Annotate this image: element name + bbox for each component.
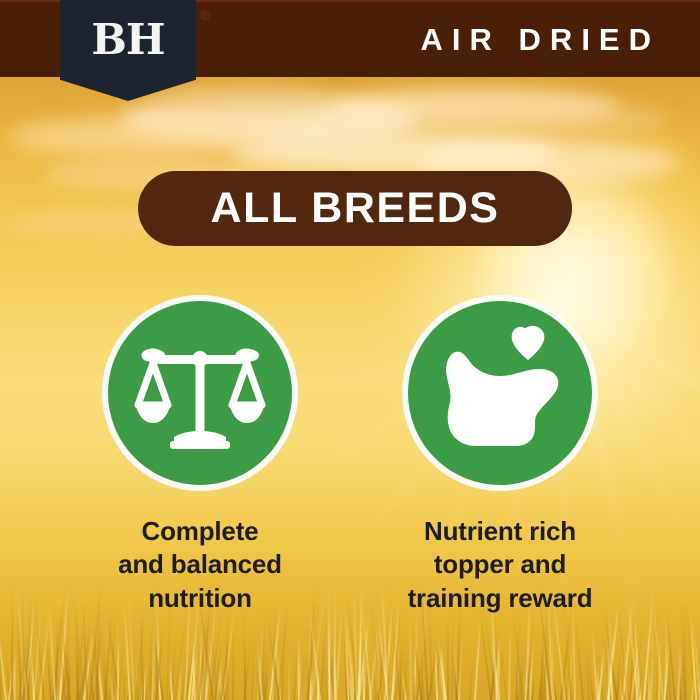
brand-logo-shield[interactable]: BH	[60, 0, 196, 101]
balance-scales-icon	[134, 335, 266, 451]
feature-caption: Completeand balancednutrition	[118, 515, 282, 615]
dog-head-heart-icon	[424, 320, 576, 466]
grass-blade	[223, 660, 225, 700]
dog-head-shape	[446, 352, 558, 446]
grass-blade	[469, 655, 474, 700]
registered-trademark-icon: ®	[200, 8, 210, 23]
grass-blade	[281, 607, 287, 700]
grass-blade	[668, 628, 670, 700]
feature-item-complete-balanced-nutrition: Completeand balancednutrition	[76, 295, 324, 615]
feature-list: Completeand balancednutrition Nutrient r…	[0, 295, 700, 615]
grass-blade	[288, 652, 291, 700]
header-title: AIR DRIED	[421, 2, 660, 77]
feature-caption: Nutrient richtopper andtraining reward	[408, 515, 593, 615]
grass-blade	[122, 654, 126, 700]
feature-icon-circle	[102, 295, 298, 491]
grass-blade	[508, 622, 512, 700]
grass-blade	[648, 661, 650, 700]
feature-icon-circle	[402, 295, 598, 491]
all-breeds-badge: ALL BREEDS	[138, 171, 572, 246]
brand-mark-text: BH	[91, 19, 164, 61]
grass-blade	[386, 622, 389, 700]
grass-blade	[117, 633, 119, 700]
grass-blade	[516, 643, 519, 700]
grass-blade	[650, 626, 654, 700]
feature-item-nutrient-rich-topper: Nutrient richtopper andtraining reward	[376, 295, 624, 615]
heart-shape	[512, 326, 545, 360]
grass-blade	[597, 662, 599, 700]
grass-blade	[232, 617, 234, 700]
grass-blade	[413, 671, 415, 700]
grass-blade	[447, 611, 449, 700]
all-breeds-label: ALL BREEDS	[211, 187, 500, 230]
product-banner: AIR DRIED BH ® ALL BREEDS	[0, 0, 700, 700]
